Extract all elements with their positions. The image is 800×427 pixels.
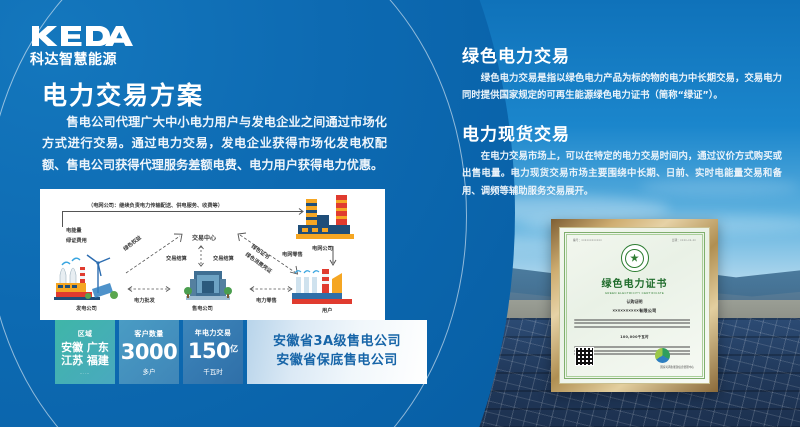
stat-card-customers: 客户数量 3000 多户	[119, 320, 179, 384]
seal-star-icon	[630, 254, 639, 263]
banner-line-1: 安徽省3A级售电公司	[273, 333, 401, 352]
certificate-serial: 编号：××××××××××××	[573, 238, 602, 242]
stats-strip: 区域 安徽 广东 江苏 福建 …… 客户数量 3000 多户 年电力交易 150…	[55, 320, 427, 384]
section-paragraph-green-power: 绿色电力交易是指以绿色电力产品为标的物的电力中长期交易，交易电力同时提供国家规定…	[462, 70, 782, 105]
diagram-node-user: 用户	[322, 307, 332, 314]
stat-caption: 区域	[78, 329, 93, 339]
stat-value: 3000	[121, 342, 177, 363]
stat-unit: 亿	[230, 345, 238, 354]
arrow-double-vertical-icon	[197, 245, 205, 267]
brand-name-cn: 科达智慧能源	[30, 49, 138, 69]
stat-caption: 年电力交易	[195, 328, 232, 338]
certificate-issuer: 国家可再生能源信息管理中心	[660, 365, 694, 369]
stat-sub: 千瓦时	[203, 366, 223, 376]
certificate-inner: 编号：×××××××××××× 日期：××××-××-×× 绿色电力证书 GRE…	[559, 227, 710, 384]
section-heading-spot-trading: 电力现货交易	[462, 120, 570, 145]
certificate-seal-icon	[621, 244, 649, 272]
intro-paragraph: 售电公司代理广大中小电力用户与发电企业之间通过市场化方式进行交易。通过电力交易，…	[42, 112, 387, 176]
certificate-subtitle: 认购证明	[627, 299, 643, 305]
diagram-note-energy: 电能量	[66, 227, 82, 234]
certificate-text-line	[574, 319, 695, 321]
brand-logo: 科达智慧能源	[30, 24, 138, 69]
certificate-body-lines	[574, 317, 695, 329]
certificate-text-line	[574, 326, 695, 328]
diagram-trading-center: 交易中心	[192, 233, 216, 242]
stat-card-annual-trade: 年电力交易 150亿 千瓦时	[183, 320, 243, 384]
market-flow-diagram: （电网公司：继续负责电力传输配送、供电服务、收费等） 电能量 绿证费用 交易中心…	[40, 189, 385, 320]
qualification-banner: KEDA 安徽省3A级售电公司 安徽省保底售电公司	[247, 320, 427, 384]
certificate-qr-code	[575, 347, 594, 366]
power-generator-icon	[54, 245, 126, 301]
certificate-header: 编号：×××××××××××× 日期：××××-××-××	[569, 238, 700, 242]
page-title: 电力交易方案	[42, 76, 204, 112]
certificate-title-en: GREEN ELECTRICITY CERTIFICATE	[605, 291, 664, 295]
certificate-amount: 100,000千瓦时	[620, 331, 649, 341]
end-user-icon	[290, 265, 362, 305]
section-heading-green-power: 绿色电力交易	[462, 42, 570, 67]
diagram-node-generator: 发电公司	[76, 305, 97, 312]
diagram-top-note: （电网公司：继续负责电力传输配送、供电服务、收费等）	[88, 202, 223, 209]
stat-value: 150	[188, 339, 230, 363]
diagram-grid-retail: 电网零售	[282, 251, 303, 258]
certificate-org-badge-icon	[655, 348, 670, 363]
banner-watermark: KEDA	[247, 320, 251, 384]
poster-canvas: 科达智慧能源 电力交易方案 售电公司代理广大中小电力用户与发电企业之间通过市场化…	[0, 0, 800, 427]
diagram-settlement-right: 交易结算	[213, 255, 234, 262]
section-paragraph-spot-trading: 在电力交易市场上，可以在特定的电力交易时间内，通过议价方式购买或出售电量。电力现…	[462, 148, 782, 200]
diagram-node-retailer: 售电公司	[192, 305, 213, 312]
diagram-note-certfee: 绿证费用	[66, 237, 87, 244]
grid-flow-line	[62, 211, 298, 212]
certificate-frame: 编号：×××××××××××× 日期：××××-××-×× 绿色电力证书 GRE…	[551, 219, 718, 392]
diagram-wholesale: 电力批发	[134, 297, 155, 304]
stat-region-line2: 江苏 福建	[61, 355, 109, 368]
certificate-title: 绿色电力证书	[602, 275, 668, 290]
arrow-double-horizontal-icon	[126, 285, 172, 293]
keda-logo-icon	[30, 24, 138, 48]
retail-company-icon	[180, 267, 236, 303]
diagram-card: （电网公司：继续负责电力传输配送、供电服务、收费等） 电能量 绿证费用 交易中心…	[40, 189, 385, 320]
certificate-body: 编号：×××××××××××× 日期：××××-××-×× 绿色电力证书 GRE…	[569, 237, 700, 374]
stat-caption: 客户数量	[134, 329, 163, 339]
certificate-amount-value: 100,000	[620, 335, 638, 339]
stat-region-more: ……	[80, 370, 91, 375]
stat-value-row: 150亿	[188, 341, 238, 363]
certificate-text-line	[574, 322, 695, 324]
banner-line-2: 安徽省保底售电公司	[276, 352, 398, 371]
stat-card-region: 区域 安徽 广东 江苏 福建 ……	[55, 320, 115, 384]
diagram-node-grid: 电网公司	[312, 245, 333, 252]
grid-flow-line-tick	[62, 211, 63, 227]
stat-sub: 多户	[143, 366, 156, 376]
arrow-diagonal-up-icon	[124, 231, 186, 275]
arrow-double-horizontal-icon	[248, 285, 294, 293]
certificate-company: ××××××××××有限公司	[612, 308, 656, 314]
grid-company-icon	[292, 195, 360, 243]
certificate-amount-unit: 千瓦时	[638, 335, 649, 339]
certificate-date: 日期：××××-××-××	[672, 238, 696, 242]
diagram-retail: 电力零售	[256, 297, 277, 304]
